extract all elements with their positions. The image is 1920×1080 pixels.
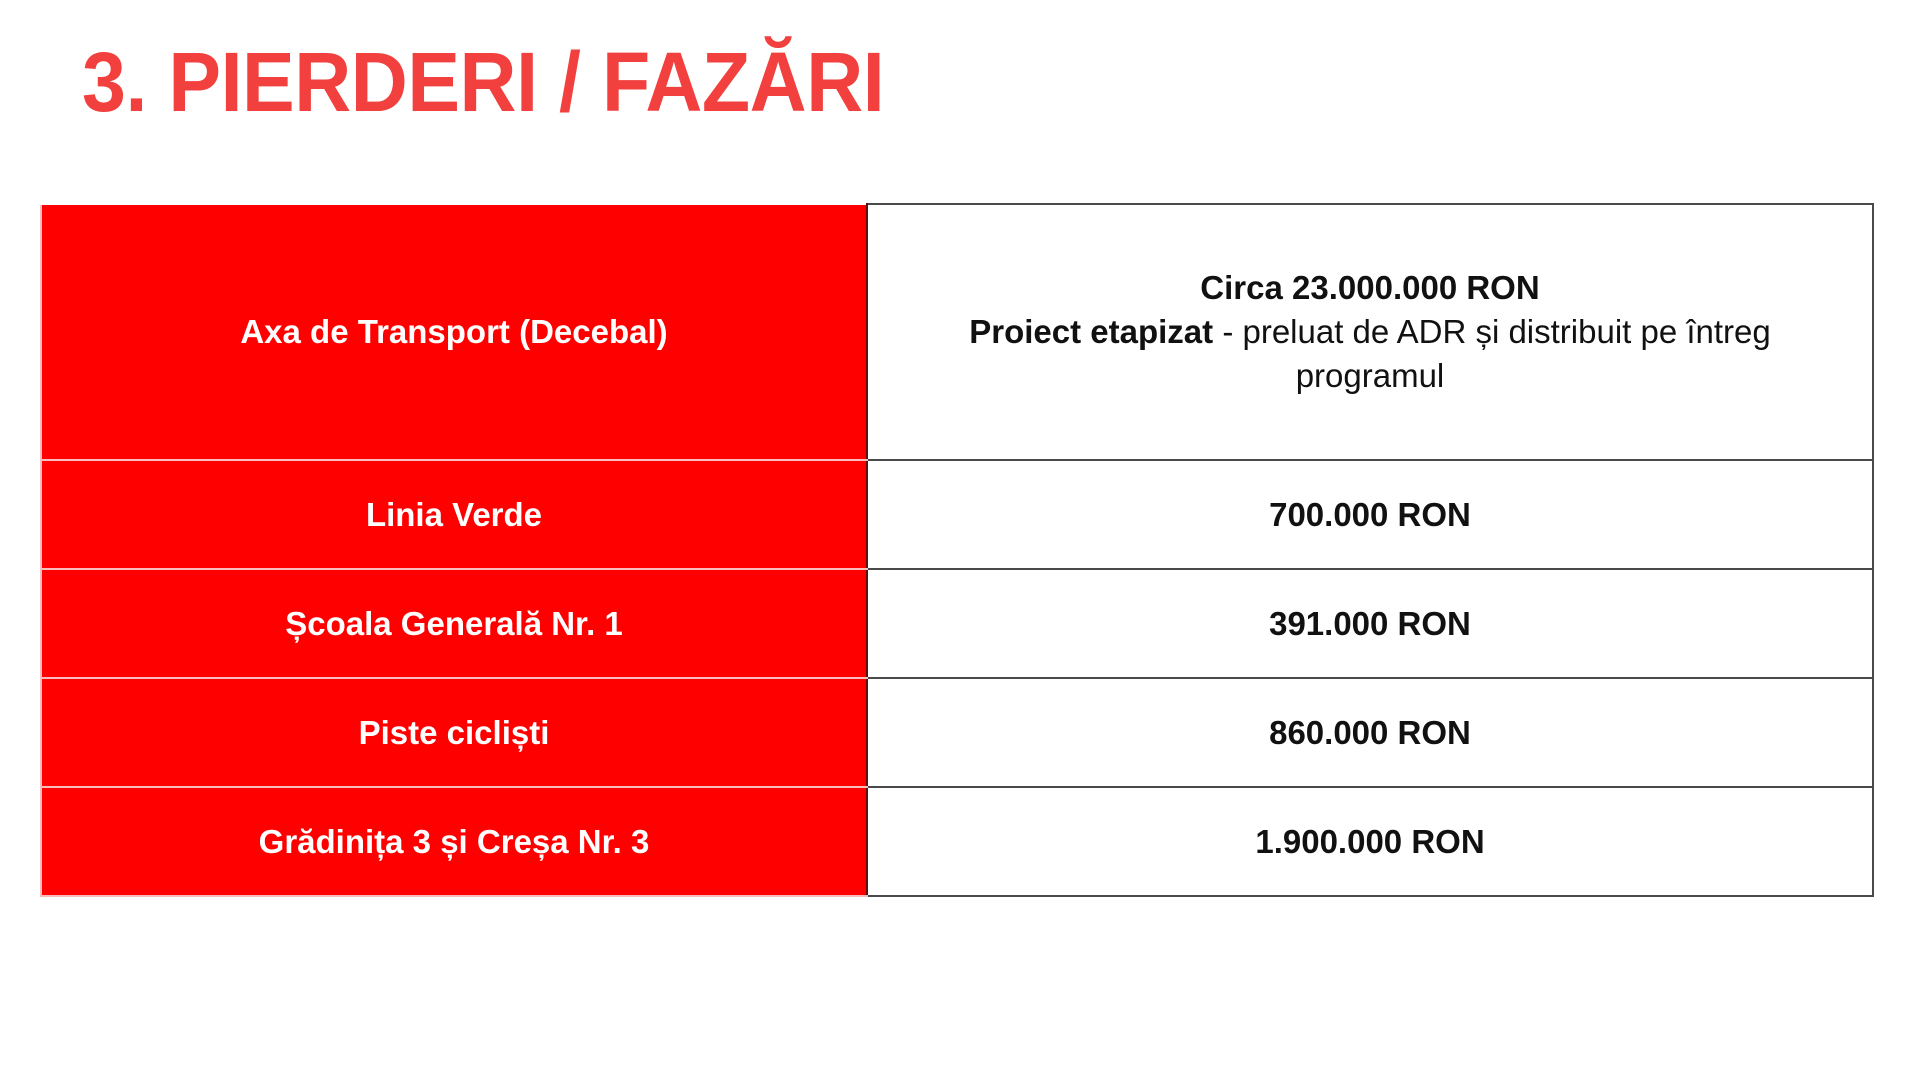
table-row: Grădinița 3 și Creșa Nr. 3 1.900.000 RON (41, 787, 1873, 896)
row-value-linia-verde: 700.000 RON (867, 460, 1873, 569)
losses-table-body: Axa de Transport (Decebal) Circa 23.000.… (41, 204, 1873, 896)
row-value-piste-ciclisti: 860.000 RON (867, 678, 1873, 787)
row-label-piste-ciclisti: Piste cicliști (41, 678, 867, 787)
amount-text: 860.000 RON (894, 711, 1846, 755)
table-row: Linia Verde 700.000 RON (41, 460, 1873, 569)
note-emphasis: Proiect etapizat (969, 313, 1213, 350)
table-row: Piste cicliști 860.000 RON (41, 678, 1873, 787)
row-label-scoala-generala-nr-1: Școala Generală Nr. 1 (41, 569, 867, 678)
slide-root: 3. PIERDERI / FAZĂRI Axa de Transport (D… (0, 0, 1920, 1080)
note-rest: - preluat de ADR și distribuit pe întreg… (1213, 313, 1771, 394)
row-value-gradinita-3-cresa-nr-3: 1.900.000 RON (867, 787, 1873, 896)
losses-table: Axa de Transport (Decebal) Circa 23.000.… (40, 203, 1874, 897)
table-row: Axa de Transport (Decebal) Circa 23.000.… (41, 204, 1873, 460)
row-value-scoala-generala-nr-1: 391.000 RON (867, 569, 1873, 678)
page-title: 3. PIERDERI / FAZĂRI (82, 34, 884, 130)
row-label-linia-verde: Linia Verde (41, 460, 867, 569)
row-label-axa-de-transport: Axa de Transport (Decebal) (41, 204, 867, 460)
table-row: Școala Generală Nr. 1 391.000 RON (41, 569, 1873, 678)
amount-text: 1.900.000 RON (894, 820, 1846, 864)
amount-text: 700.000 RON (894, 493, 1846, 537)
row-value-axa-de-transport: Circa 23.000.000 RON Proiect etapizat - … (867, 204, 1873, 460)
amount-text: Circa 23.000.000 RON (894, 266, 1846, 310)
amount-text: 391.000 RON (894, 602, 1846, 646)
note-text: Proiect etapizat - preluat de ADR și dis… (894, 310, 1846, 398)
row-label-gradinita-3-cresa-nr-3: Grădinița 3 și Creșa Nr. 3 (41, 787, 867, 896)
